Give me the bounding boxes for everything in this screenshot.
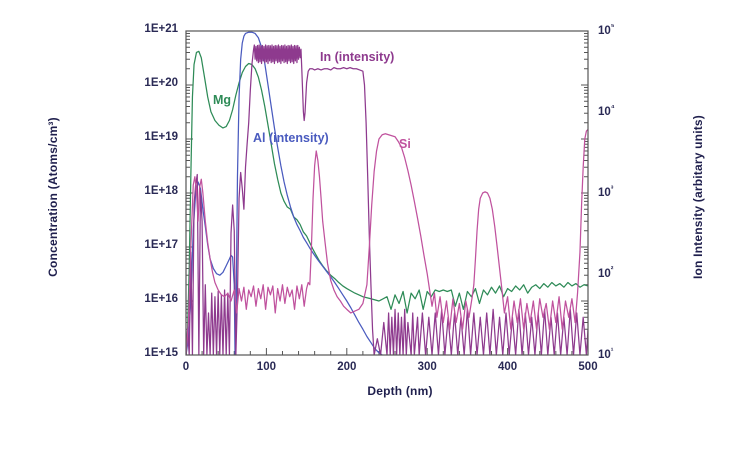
x-tick-label: 500 (558, 361, 618, 373)
y-tick-label-left: 1E+16 (116, 293, 178, 305)
x-tick-label: 100 (236, 361, 296, 373)
y-tick-label-left: 1E+20 (116, 77, 178, 89)
y-tick-label-right: 10² (598, 265, 660, 280)
y-tick-label-left: 1E+15 (116, 347, 178, 359)
x-tick-label: 0 (156, 361, 216, 373)
y-tick-label-left: 1E+19 (116, 131, 178, 143)
x-tick-label: 200 (317, 361, 377, 373)
x-tick-label: 400 (478, 361, 538, 373)
series-annotation-mg: Mg (213, 93, 231, 107)
y-tick-label-left: 1E+17 (116, 239, 178, 251)
series-annotation-in: In (intensity) (320, 50, 394, 64)
y-tick-label-right: 10³ (598, 184, 660, 199)
series-annotation-al: Al (intensity) (253, 131, 329, 145)
series-annotation-si: Si (399, 137, 411, 151)
y-tick-label-right: 10⁵ (598, 22, 660, 37)
sims-depth-profile-figure: Concentration (Atoms/cm³) Ion Intensity … (0, 0, 750, 459)
plot-canvas (0, 0, 750, 459)
y-tick-label-left: 1E+21 (116, 23, 178, 35)
y-tick-label-right: 10¹ (598, 346, 660, 361)
x-tick-label: 300 (397, 361, 457, 373)
y-tick-label-right: 10⁴ (598, 103, 660, 118)
y-tick-label-left: 1E+18 (116, 185, 178, 197)
